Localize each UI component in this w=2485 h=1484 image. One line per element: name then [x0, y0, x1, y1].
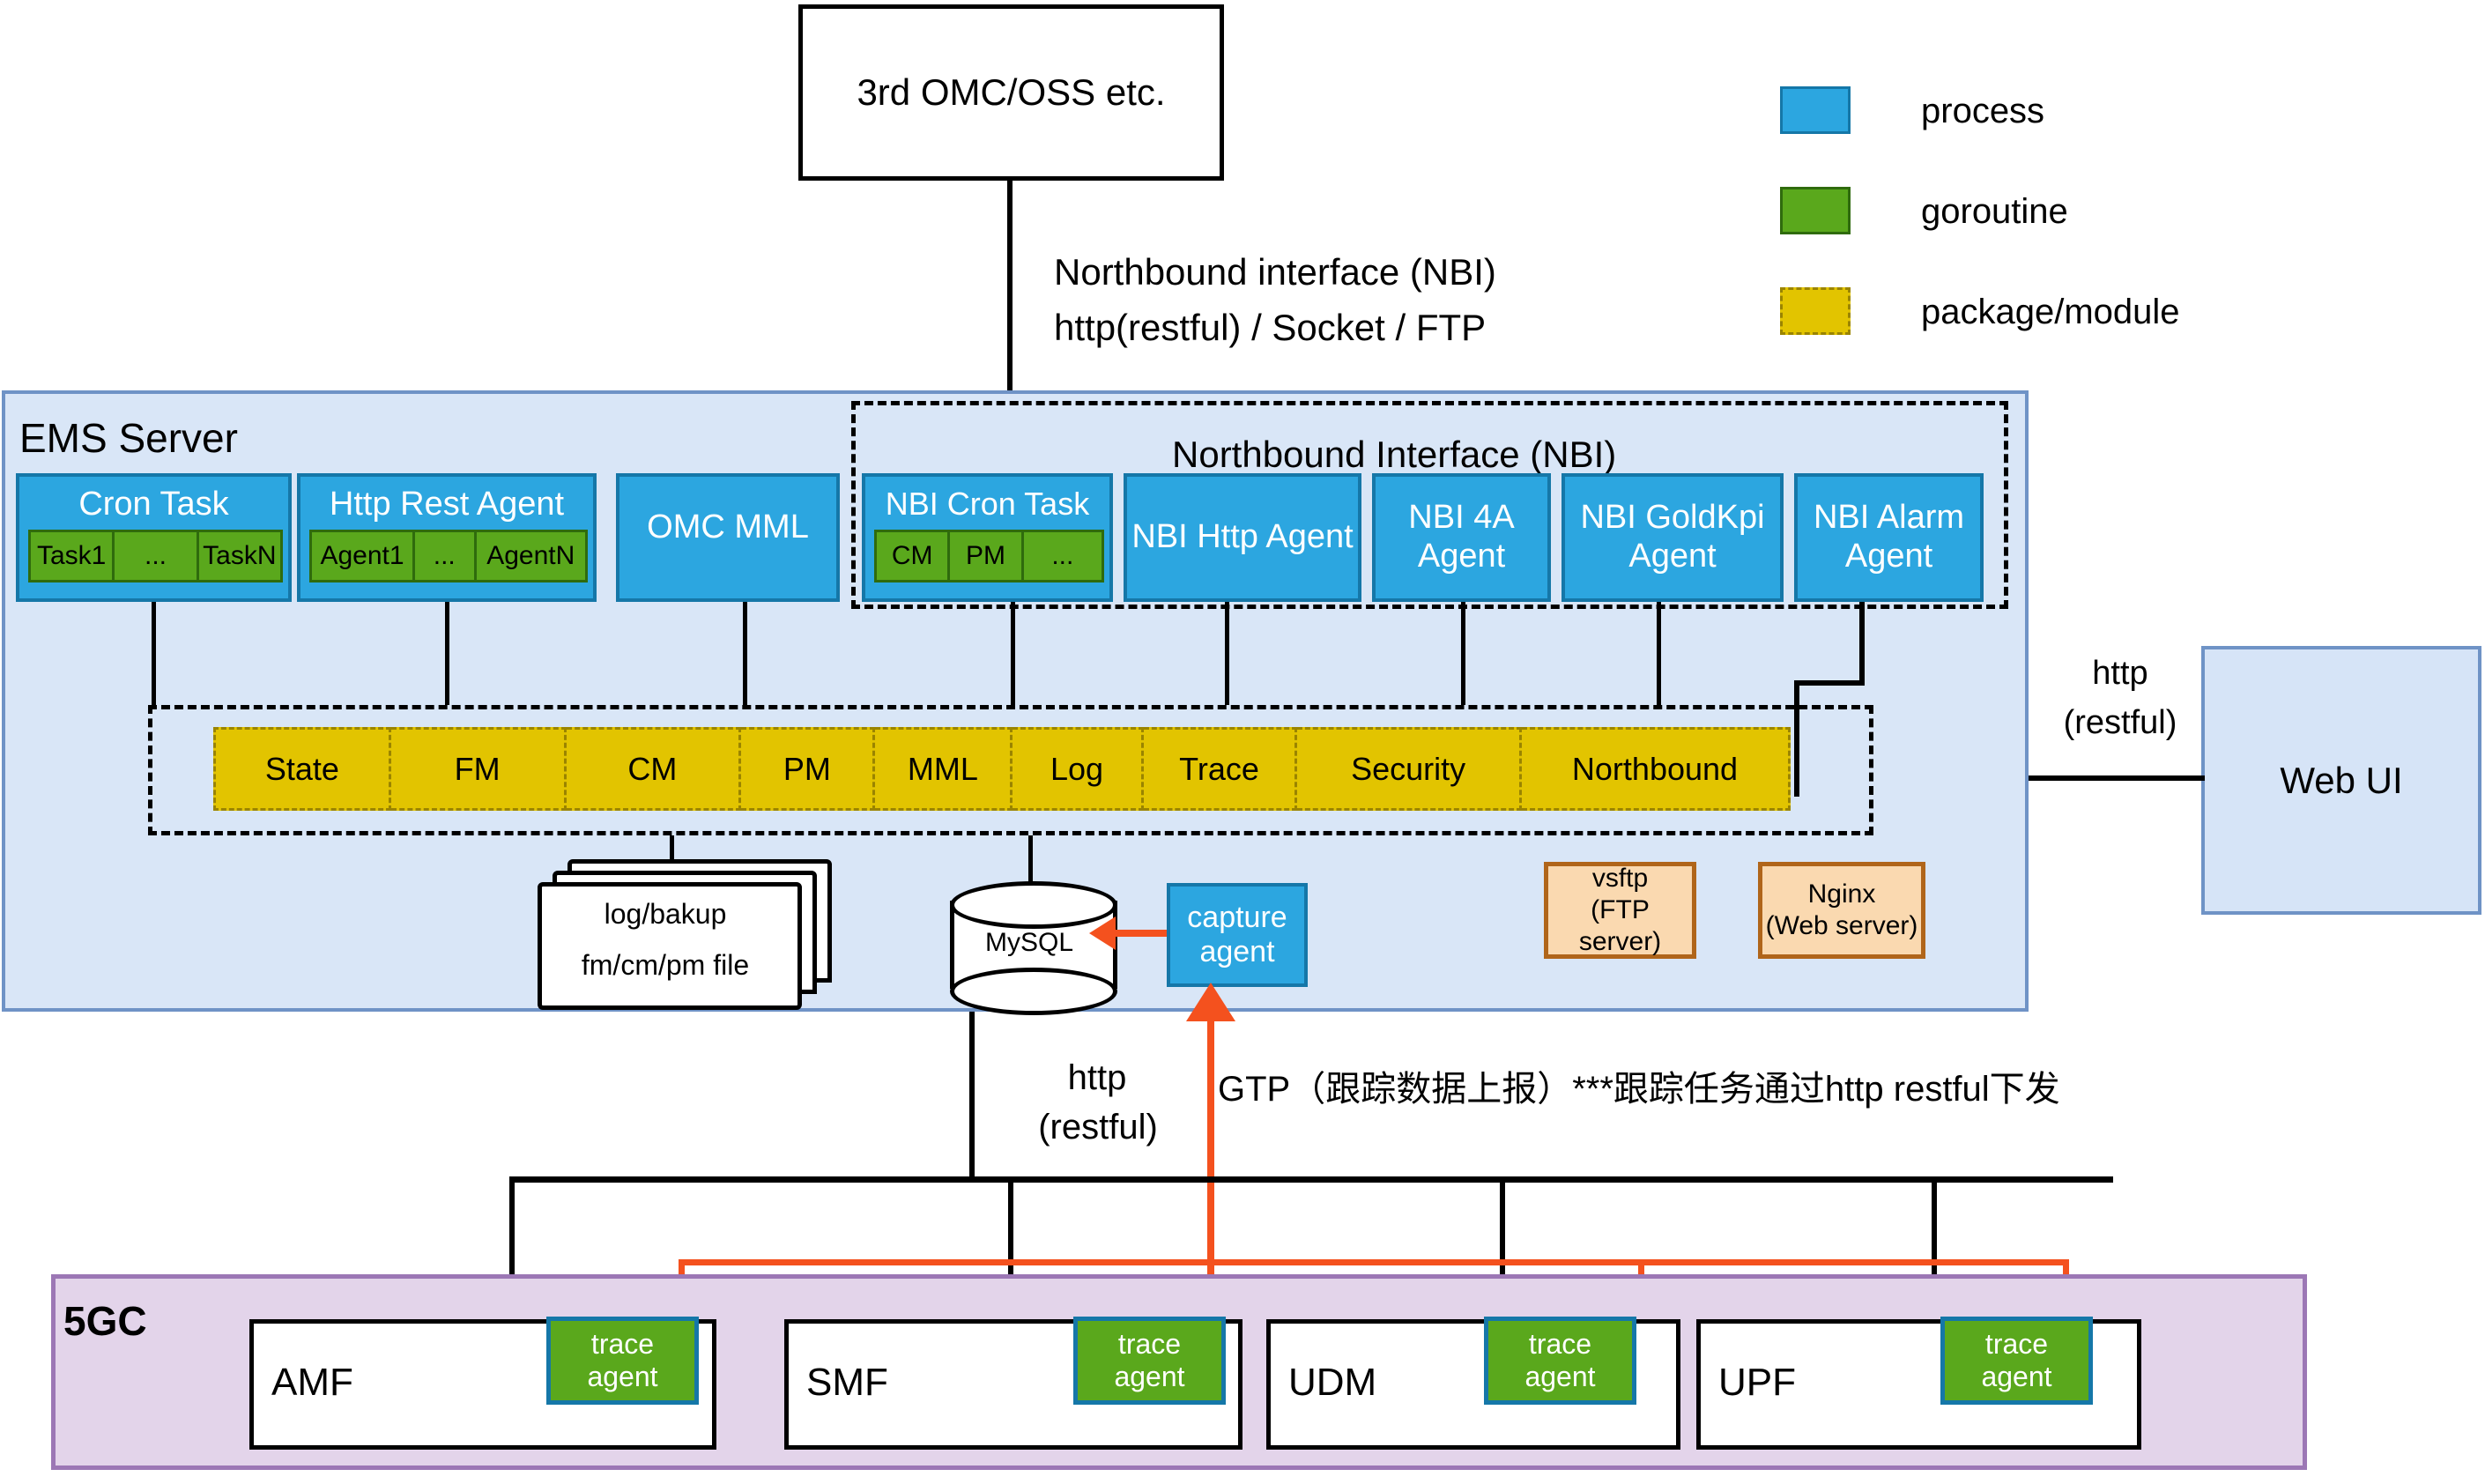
trace-agent-smf-line2: agent	[1114, 1361, 1184, 1392]
web-ui-label: Web UI	[2280, 760, 2402, 802]
connector-http-rest-agent-to-modules	[445, 602, 449, 705]
connector-oss-to-ems	[1007, 181, 1013, 392]
trace-agent-udm-line2: agent	[1524, 1361, 1595, 1392]
core-network-title: 5GC	[63, 1297, 147, 1345]
process-nbi-alarm-agent[interactable]: NBI Alarm Agent	[1794, 473, 1984, 602]
module-state[interactable]: State	[213, 727, 391, 811]
nf-smf-label: SMF	[806, 1361, 888, 1405]
trace-agent-smf-line1: trace	[1118, 1328, 1181, 1360]
connector-nbi-alarm-agent-seg1	[1859, 602, 1865, 686]
goroutine-agent-ellipsis[interactable]: ...	[415, 530, 477, 582]
server-nginx-line1: Nginx	[1808, 879, 1876, 909]
module-cm[interactable]: CM	[567, 727, 742, 811]
module-pm[interactable]: PM	[741, 727, 875, 811]
connector-nbi-alarm-agent-seg2	[1794, 680, 1865, 686]
connector-nbi-goldkpi-agent-to-modules	[1657, 602, 1661, 705]
web-ui-link-label-line1: http	[2044, 654, 2196, 693]
process-http-rest-agent[interactable]: Http Rest Agent Agent1 ... AgentN	[297, 473, 597, 602]
trace-agent-udm-line1: trace	[1529, 1328, 1591, 1360]
trace-agent-upf-line1: trace	[1985, 1328, 2048, 1360]
process-nbi-cron-task-label: NBI Cron Task	[865, 480, 1109, 528]
process-nbi-4a-agent[interactable]: NBI 4A Agent	[1372, 473, 1551, 602]
nbi-group-title: Northbound Interface (NBI)	[1172, 434, 1616, 476]
process-cron-task[interactable]: Cron Task Task1 ... TaskN	[16, 473, 292, 602]
legend-label-module: package/module	[1921, 293, 2180, 332]
capture-agent-label-line2: agent	[1199, 935, 1274, 968]
server-nginx: Nginx (Web server)	[1758, 862, 1925, 959]
trace-agent-amf-line1: trace	[591, 1328, 654, 1360]
architecture-diagram: process goroutine package/module 3rd OMC…	[0, 0, 2485, 1484]
trace-bus-horizontal	[679, 1259, 2069, 1265]
trace-agent-upf-line2: agent	[1981, 1361, 2051, 1392]
web-ui-box[interactable]: Web UI	[2201, 646, 2481, 915]
core-link-label-line1: http	[1031, 1057, 1163, 1098]
process-nbi-alarm-agent-label: NBI Alarm Agent	[1798, 499, 1980, 575]
process-nbi-http-agent-label: NBI Http Agent	[1131, 518, 1353, 557]
trace-agent-smf[interactable]: trace agent	[1073, 1317, 1226, 1405]
server-nginx-line2: (Web server)	[1766, 911, 1918, 940]
nf-amf-label: AMF	[271, 1361, 353, 1405]
process-omc-mml[interactable]: OMC MML	[616, 473, 840, 602]
process-capture-agent[interactable]: capture agent	[1167, 883, 1308, 987]
goroutine-nbi-ellipsis[interactable]: ...	[1024, 530, 1104, 582]
trace-agent-upf[interactable]: trace agent	[1940, 1317, 2093, 1405]
trace-agent-amf-line2: agent	[587, 1361, 657, 1392]
legend-swatch-process	[1780, 86, 1851, 134]
legend-label-goroutine: goroutine	[1921, 192, 2068, 232]
third-party-omc-oss-label: 3rd OMC/OSS etc.	[857, 71, 1165, 114]
process-nbi-4a-agent-label: NBI 4A Agent	[1376, 499, 1547, 575]
connector-cron-task-to-modules	[152, 602, 156, 705]
goroutine-nbi-cm[interactable]: CM	[874, 530, 950, 582]
process-nbi-goldkpi-agent-label: NBI GoldKpi Agent	[1565, 499, 1780, 575]
connector-nbi-4a-agent-to-modules	[1461, 602, 1465, 705]
process-http-rest-agent-label: Http Rest Agent	[300, 480, 593, 528]
goroutine-agentn[interactable]: AgentN	[477, 530, 589, 582]
mysql-database-cylinder: MySQL	[950, 881, 1109, 1005]
third-party-omc-oss-box: 3rd OMC/OSS etc.	[798, 4, 1224, 181]
ems-server-title: EMS Server	[19, 414, 238, 462]
goroutine-nbi-pm[interactable]: PM	[950, 530, 1023, 582]
server-vsftp: vsftp (FTP server)	[1544, 862, 1696, 959]
module-security[interactable]: Security	[1297, 727, 1522, 811]
legend-label-process: process	[1921, 92, 2044, 131]
connector-ems-to-core-vertical	[969, 1012, 975, 1179]
file-stack-label-line1: log/bakup	[538, 894, 793, 933]
process-omc-mml-label: OMC MML	[619, 508, 836, 546]
log-backup-file-stack: log/bakup fm/cm/pm file	[538, 859, 828, 996]
connector-ems-to-web-ui	[2029, 775, 2205, 781]
connector-nbi-http-agent-to-modules	[1225, 602, 1229, 705]
process-nbi-http-agent[interactable]: NBI Http Agent	[1124, 473, 1361, 602]
process-nbi-goldkpi-agent[interactable]: NBI GoldKpi Agent	[1561, 473, 1784, 602]
gtp-note-label: GTP（跟踪数据上报）***跟踪任务通过http restful下发	[1218, 1060, 2060, 1111]
server-vsftp-line1: vsftp	[1592, 864, 1648, 893]
connector-omc-mml-to-modules	[743, 602, 747, 705]
nf-udm-label: UDM	[1288, 1361, 1376, 1405]
nbi-link-label-line2: http(restful) / Socket / FTP	[1054, 307, 1486, 349]
legend-swatch-module	[1780, 287, 1851, 335]
module-trace[interactable]: Trace	[1144, 727, 1298, 811]
module-fm[interactable]: FM	[391, 727, 567, 811]
goroutine-task1[interactable]: Task1	[28, 530, 115, 582]
process-nbi-cron-task[interactable]: NBI Cron Task CM PM ...	[862, 473, 1113, 602]
process-nbi-cron-task-children: CM PM ...	[874, 530, 1104, 582]
module-mml[interactable]: MML	[875, 727, 1013, 811]
arrow-gtp-to-capture-head	[1186, 983, 1235, 1021]
trace-agent-udm[interactable]: trace agent	[1484, 1317, 1636, 1405]
nf-upf-label: UPF	[1718, 1361, 1796, 1405]
trace-agent-amf[interactable]: trace agent	[546, 1317, 699, 1405]
module-northbound[interactable]: Northbound	[1522, 727, 1791, 811]
goroutine-agent1[interactable]: Agent1	[309, 530, 415, 582]
mysql-label: MySQL	[950, 924, 1109, 962]
process-cron-task-label: Cron Task	[19, 480, 288, 528]
module-bar: State FM CM PM MML Log Trace Security No…	[213, 727, 1791, 811]
connector-modules-to-mysql	[1028, 835, 1033, 888]
goroutine-taskn[interactable]: TaskN	[199, 530, 283, 582]
web-ui-link-label-line2: (restful)	[2036, 703, 2205, 742]
capture-agent-label-line1: capture	[1187, 901, 1287, 934]
goroutine-task-ellipsis[interactable]: ...	[115, 530, 198, 582]
file-stack-label-line2: fm/cm/pm file	[538, 946, 793, 984]
core-link-label-line2: (restful)	[1013, 1107, 1183, 1147]
process-cron-task-children: Task1 ... TaskN	[28, 530, 283, 582]
process-http-rest-agent-children: Agent1 ... AgentN	[309, 530, 588, 582]
nbi-link-label-line1: Northbound interface (NBI)	[1054, 251, 1496, 293]
legend-swatch-goroutine	[1780, 187, 1851, 234]
server-vsftp-line2: (FTP server)	[1579, 895, 1661, 956]
module-log[interactable]: Log	[1013, 727, 1143, 811]
core-bus-horizontal	[509, 1176, 2113, 1183]
arrow-capture-to-mysql-shaft	[1112, 930, 1167, 937]
connector-nbi-cron-task-to-modules	[1011, 602, 1015, 705]
